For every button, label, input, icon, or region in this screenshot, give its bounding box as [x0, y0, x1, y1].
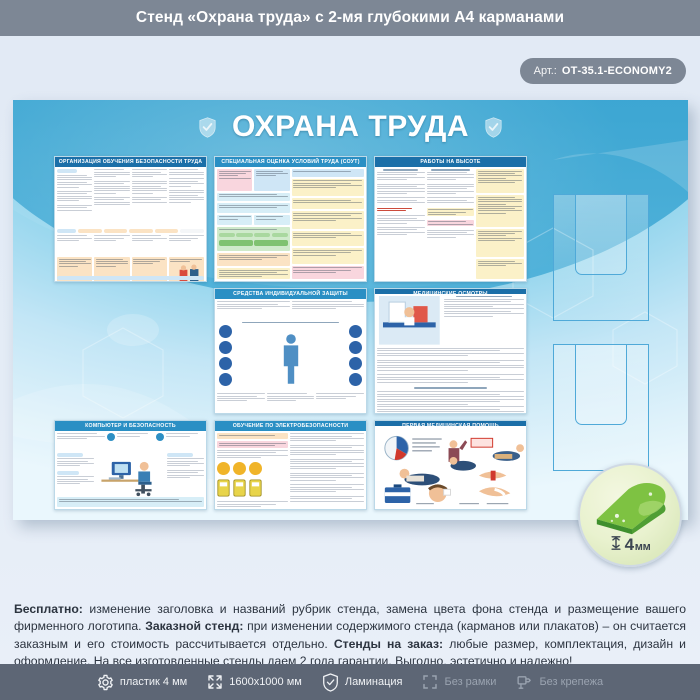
poster-title: РАБОТЫ НА ВЫСОТЕ: [375, 157, 526, 167]
poster-title: КОМПЬЮТЕР И БЕЗОПАСНОСТЬ: [55, 421, 206, 431]
footer-spec-bar: пластик 4 мм 1600x1000 мм Ламинация Без …: [0, 664, 700, 700]
poster-pervaya-pomoshch[interactable]: ПЕРВАЯ МЕДИЦИНСКАЯ ПОМОЩЬ: [374, 420, 527, 510]
worker-silhouette-icon: [279, 330, 303, 388]
board-header: ОХРАНА ТРУДА: [13, 104, 688, 150]
shield-check-icon: [322, 673, 339, 692]
poster-title: СПЕЦИАЛЬНАЯ ОЦЕНКА УСЛОВИЙ ТРУДА (СОУТ): [215, 157, 366, 167]
shield-check-icon-left: [199, 117, 216, 138]
article-label: Арт.:: [534, 65, 557, 77]
shield-check-icon-right: [485, 117, 502, 138]
desc-lead-free: Бесплатно:: [14, 602, 83, 616]
thickness-badge: 4мм: [578, 463, 682, 567]
poster-content: [375, 426, 526, 510]
pocket-cutout: [575, 195, 628, 275]
poster-title: ОРГАНИЗАЦИЯ ОБУЧЕНИЯ БЕЗОПАСНОСТИ ТРУДА: [55, 157, 206, 167]
desc-lead-custom: Заказной стенд:: [145, 619, 243, 633]
poster-soyt[interactable]: СПЕЦИАЛЬНАЯ ОЦЕНКА УСЛОВИЙ ТРУДА (СОУТ): [214, 156, 367, 282]
stand-board: ОХРАНА ТРУДА ОРГАНИЗАЦИЯ ОБУЧЕНИЯ БЕЗОПА…: [13, 100, 688, 520]
page-content: Арт.: ОТ-35.1-ECONOMY2: [0, 36, 700, 664]
tester-device-icon: [249, 479, 262, 497]
spec-frame: Без рамки: [422, 674, 496, 690]
first-aid-illustrations: [377, 428, 524, 509]
poster-title: СРЕДСТВА ИНДИВИДУАЛЬНОЙ ЗАЩИТЫ: [215, 289, 366, 299]
pocket-cutout: [575, 345, 628, 425]
spec-fastening: Без крепежа: [516, 674, 603, 691]
workstation-illustration: [97, 453, 163, 497]
poster-title: ОБУЧЕНИЕ ПО ЭЛЕКТРОБЕЗОПАСНОСТИ: [215, 421, 366, 431]
gear-icon: [97, 674, 114, 691]
poster-content: [215, 167, 366, 281]
spec-label: 1600x1000 мм: [229, 676, 302, 688]
poster-med-osmotry[interactable]: МЕДИЦИНСКИЕ ОСМОТРЫ: [374, 288, 527, 414]
spec-label: Ламинация: [345, 676, 403, 688]
poster-elektrobezopasnost[interactable]: ОБУЧЕНИЕ ПО ЭЛЕКТРОБЕЗОПАСНОСТИ: [214, 420, 367, 510]
spec-label: Без рамки: [444, 676, 496, 688]
article-value: ОТ-35.1-ECONOMY2: [562, 65, 672, 77]
poster-content: [375, 294, 526, 414]
spec-material: пластик 4 мм: [97, 674, 187, 691]
drill-icon: [516, 674, 533, 691]
poster-organizacia-obucheniya[interactable]: ОРГАНИЗАЦИЯ ОБУЧЕНИЯ БЕЗОПАСНОСТИ ТРУДА: [54, 156, 207, 282]
thickness-unit: мм: [635, 541, 651, 553]
poster-content: [375, 167, 526, 281]
spec-label: пластик 4 мм: [120, 676, 187, 688]
pocket-a4-deep-top[interactable]: [553, 195, 649, 321]
poster-content: [55, 167, 206, 281]
page-title: Стенд «Охрана труда» с 2-мя глубокими А4…: [136, 9, 564, 27]
plastic-sheet-icon: [590, 479, 674, 541]
description-block: Бесплатно: изменение заголовка и названи…: [14, 601, 686, 670]
poster-siz[interactable]: СРЕДСТВА ИНДИВИДУАЛЬНОЙ ЗАЩИТЫ: [214, 288, 367, 414]
spec-lamination: Ламинация: [322, 673, 403, 692]
pocket-a4-deep-bottom[interactable]: [553, 345, 649, 471]
top-title-bar: Стенд «Охрана труда» с 2-мя глубокими А4…: [0, 0, 700, 36]
doctor-illustration: [377, 296, 442, 345]
article-badge: Арт.: ОТ-35.1-ECONOMY2: [520, 58, 686, 84]
tester-device-icon: [233, 479, 246, 497]
poster-content: [215, 299, 366, 413]
resize-icon: [207, 674, 223, 690]
spec-label: Без крепежа: [539, 676, 603, 688]
desc-lead-order: Стенды на заказ:: [334, 637, 443, 651]
spec-dimensions: 1600x1000 мм: [207, 674, 302, 690]
poster-content: [215, 431, 366, 509]
board-title: ОХРАНА ТРУДА: [232, 110, 469, 144]
stand-preview: ОХРАНА ТРУДА ОРГАНИЗАЦИЯ ОБУЧЕНИЯ БЕЗОПА…: [13, 100, 688, 520]
frame-icon: [422, 674, 438, 690]
tester-device-icon: [217, 479, 230, 497]
poster-raboty-na-vysote[interactable]: РАБОТЫ НА ВЫСОТЕ: [374, 156, 527, 282]
poster-content: [55, 431, 206, 509]
poster-kompyuter-bezopasnost[interactable]: КОМПЬЮТЕР И БЕЗОПАСНОСТЬ: [54, 420, 207, 510]
